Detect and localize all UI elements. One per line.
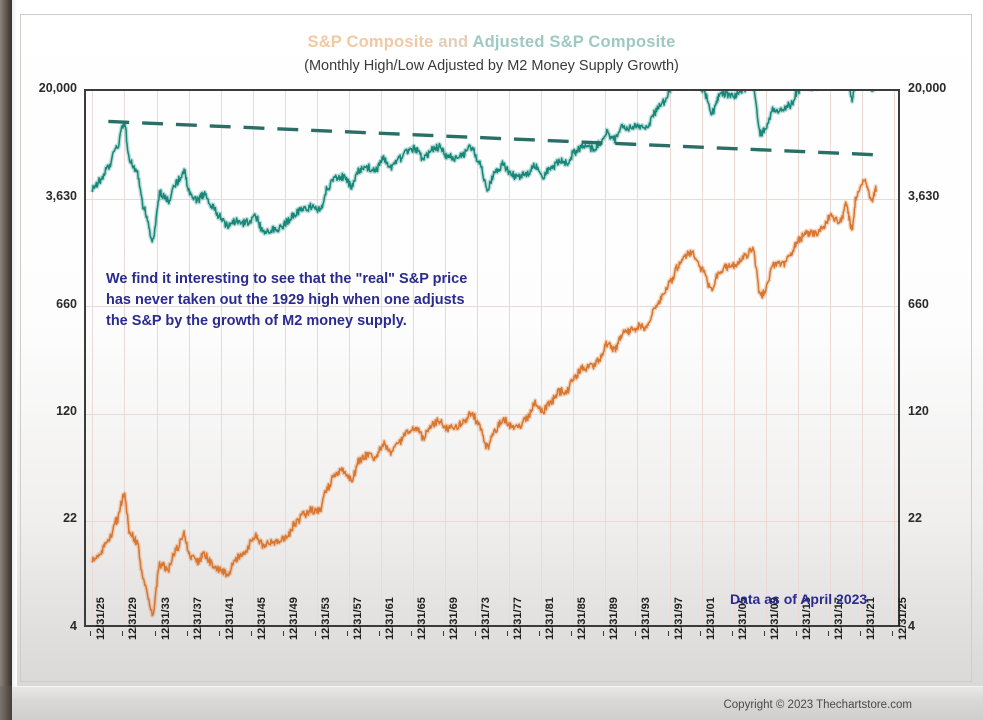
x-axis-tick-label: 12/31/89	[608, 597, 620, 640]
y-axis-tick-label-right: 3,630	[908, 189, 939, 203]
x-axis-tick	[635, 631, 636, 636]
x-axis-tick	[122, 631, 123, 636]
chart-subtitle: (Monthly High/Low Adjusted by M2 Money S…	[0, 58, 983, 74]
x-axis-tick-label: 12/31/97	[673, 597, 685, 640]
x-axis-tick	[155, 631, 156, 636]
x-axis-tick	[603, 631, 604, 636]
x-axis-tick-label: 12/31/29	[127, 597, 139, 640]
x-axis-tick	[219, 631, 220, 636]
y-axis-tick-label-left: 4	[70, 619, 77, 633]
page-edge-highlight	[12, 0, 17, 686]
x-axis-tick	[379, 631, 380, 636]
x-axis-tick-label: 12/31/81	[544, 597, 556, 640]
x-axis-tick	[892, 631, 893, 636]
chart-screenshot: S&P Composite and Adjusted S&P Composite…	[0, 0, 983, 720]
series-halo	[92, 179, 876, 615]
y-axis-tick-label-right: 22	[908, 511, 922, 525]
y-axis-tick-label-left: 120	[56, 404, 77, 418]
x-axis-tick-label: 12/31/33	[160, 597, 172, 640]
x-axis-tick	[187, 631, 188, 636]
x-axis-tick-label: 12/31/85	[576, 597, 588, 640]
x-axis-tick-label: 12/31/25	[95, 597, 107, 640]
x-axis-tick	[251, 631, 252, 636]
x-axis-tick-label: 12/31/73	[480, 597, 492, 640]
x-axis-tick-label: 12/31/45	[256, 597, 268, 640]
x-axis-tick-label: 12/31/25	[897, 597, 909, 640]
y-axis-tick-label-left: 3,630	[46, 189, 77, 203]
x-axis-tick	[860, 631, 861, 636]
x-axis-tick-label: 12/31/61	[384, 597, 396, 640]
x-axis-tick-label: 12/31/93	[640, 597, 652, 640]
x-axis-tick	[828, 631, 829, 636]
plot-inner	[86, 91, 898, 625]
chart-title: S&P Composite and Adjusted S&P Composite	[0, 33, 983, 52]
series-line	[92, 179, 876, 615]
y-axis-tick-label-right: 660	[908, 297, 929, 311]
x-axis-tick	[700, 631, 701, 636]
title-adjusted-sp-composite: Adjusted S&P Composite	[472, 33, 675, 51]
x-axis-tick-label: 12/31/69	[448, 597, 460, 640]
chart-annotation: We find it interesting to see that the "…	[106, 269, 526, 332]
annotation-line-1: We find it interesting to see that the "…	[106, 269, 526, 290]
y-axis-tick-label-left: 20,000	[39, 81, 77, 95]
annotation-line-2: has never taken out the 1929 high when o…	[106, 290, 526, 311]
series-halo	[92, 91, 876, 242]
x-axis-tick	[283, 631, 284, 636]
x-axis-tick	[796, 631, 797, 636]
title-conjunction: and	[434, 33, 473, 51]
copyright-label: Copyright © 2023 Thechartstore.com	[0, 699, 912, 711]
x-axis-tick	[571, 631, 572, 636]
data-as-of-label: Data as of April 2023	[730, 591, 867, 607]
x-axis-tick-label: 12/31/41	[224, 597, 236, 640]
x-axis-tick	[475, 631, 476, 636]
x-axis-tick	[443, 631, 444, 636]
y-axis-tick-label-right: 4	[908, 619, 915, 633]
title-sp-composite: S&P Composite	[307, 33, 433, 51]
x-axis-tick	[411, 631, 412, 636]
x-axis-tick-label: 12/31/01	[705, 597, 717, 640]
x-axis-tick-label: 12/31/53	[320, 597, 332, 640]
x-axis-tick-label: 12/31/37	[192, 597, 204, 640]
x-axis-tick	[507, 631, 508, 636]
y-axis-tick-label-right: 120	[908, 404, 929, 418]
x-axis-tick-label: 12/31/77	[512, 597, 524, 640]
y-axis-tick-label-right: 20,000	[908, 81, 946, 95]
y-axis-tick-label-left: 660	[56, 297, 77, 311]
page-edge-shadow	[0, 0, 12, 686]
x-axis-tick-label: 12/31/49	[288, 597, 300, 640]
x-axis-tick	[764, 631, 765, 636]
series-lines	[86, 91, 898, 625]
x-axis-tick	[668, 631, 669, 636]
x-axis-tick	[732, 631, 733, 636]
x-axis-tick	[315, 631, 316, 636]
annotation-line-3: the S&P by the growth of M2 money supply…	[106, 311, 526, 332]
x-axis-tick	[347, 631, 348, 636]
x-axis-tick-label: 12/31/57	[352, 597, 364, 640]
x-axis-tick	[539, 631, 540, 636]
plot-area	[84, 89, 900, 627]
y-axis-tick-label-left: 22	[63, 511, 77, 525]
x-axis-tick-label: 12/31/65	[416, 597, 428, 640]
x-axis-tick	[90, 631, 91, 636]
